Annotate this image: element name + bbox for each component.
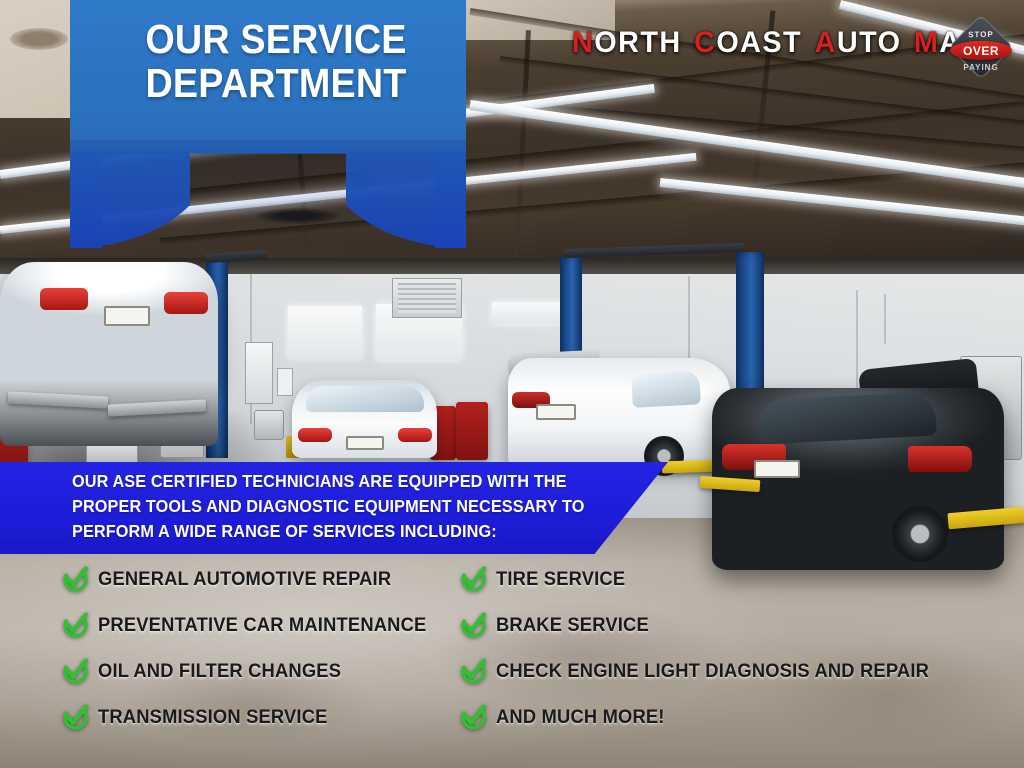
list-item-label: TIRE SERVICE <box>496 568 625 591</box>
taillight <box>908 446 972 472</box>
list-item[interactable]: AND MUCH MORE! <box>460 694 1000 740</box>
license-plate <box>346 436 384 450</box>
list-item[interactable]: OIL AND FILTER CHANGES <box>62 648 462 694</box>
list-item-label: TRANSMISSION SERVICE <box>98 706 328 729</box>
logo-cap-c: C <box>694 26 716 59</box>
list-item[interactable]: TRANSMISSION SERVICE <box>62 694 462 740</box>
wall-light-panel <box>288 306 362 358</box>
check-icon <box>460 658 486 684</box>
logo-cap-a: A <box>815 26 837 59</box>
stop-over-paying-badge[interactable]: STOP OVER PAYING <box>950 21 1012 83</box>
suv-side-window <box>631 370 701 408</box>
list-item-label: GENERAL AUTOMOTIVE REPAIR <box>98 568 391 591</box>
header-panel-tint <box>70 140 466 250</box>
logo-rest-uto: UTO <box>837 26 902 59</box>
services-column-right: TIRE SERVICE BRAKE SERVICE <box>460 556 1000 740</box>
car-white-sedan-on-lift <box>0 262 218 392</box>
logo-word-coast: COAST <box>694 28 802 58</box>
logo-word-auto: AUTO <box>815 28 902 58</box>
check-icon <box>62 566 88 592</box>
list-item[interactable]: TIRE SERVICE <box>460 556 1000 602</box>
logo-rest-orth: ORTH <box>594 26 681 59</box>
license-plate <box>754 460 800 478</box>
parts-bin <box>254 410 284 440</box>
list-item-label: CHECK ENGINE LIGHT DIAGNOSIS AND REPAIR <box>496 660 929 683</box>
badge-text-over: OVER <box>950 44 1012 58</box>
badge-text-stop: STOP <box>950 29 1012 39</box>
license-plate <box>104 306 150 326</box>
logo-word-north: NORTH <box>572 28 682 58</box>
check-icon <box>460 704 486 730</box>
info-banner-text: OUR ASE CERTIFIED TECHNICIANS ARE EQUIPP… <box>72 469 593 544</box>
check-icon <box>62 658 88 684</box>
brand-logo[interactable]: NORTH COAST AUTO MALL <box>572 28 1012 58</box>
license-plate <box>536 404 576 420</box>
logo-rest-oast: OAST <box>716 26 802 59</box>
ceiling-vent <box>10 28 68 50</box>
services-list: GENERAL AUTOMOTIVE REPAIR PREVENTATIVE C… <box>0 556 1024 746</box>
wall-ac-unit <box>392 278 462 318</box>
check-icon <box>460 612 486 638</box>
badge-text-paying: PAYING <box>950 63 1012 72</box>
wall-seam <box>884 294 886 344</box>
car-rear-window <box>306 386 424 412</box>
list-item-label: PREVENTATIVE CAR MAINTENANCE <box>98 614 426 637</box>
list-item[interactable]: GENERAL AUTOMOTIVE REPAIR <box>62 556 462 602</box>
check-icon <box>62 704 88 730</box>
logo-cap-m: M <box>914 26 939 59</box>
car-rear-window <box>759 391 937 444</box>
list-item-label: AND MUCH MORE! <box>496 706 665 729</box>
services-column-left: GENERAL AUTOMOTIVE REPAIR PREVENTATIVE C… <box>62 556 462 740</box>
list-item-label: BRAKE SERVICE <box>496 614 649 637</box>
logo-cap-n: N <box>572 26 594 59</box>
taillight <box>40 288 88 310</box>
tool-cart-red <box>456 402 488 460</box>
check-icon <box>460 566 486 592</box>
list-item[interactable]: PREVENTATIVE CAR MAINTENANCE <box>62 602 462 648</box>
wheel <box>892 506 948 562</box>
list-item-label: OIL AND FILTER CHANGES <box>98 660 341 683</box>
list-item[interactable]: BRAKE SERVICE <box>460 602 1000 648</box>
taillight <box>298 428 332 442</box>
check-icon <box>62 612 88 638</box>
wall-light-panel <box>492 302 562 324</box>
taillight <box>164 292 208 314</box>
taillight <box>398 428 432 442</box>
page-title: OUR SERVICE DEPARTMENT <box>110 18 441 106</box>
list-item[interactable]: CHECK ENGINE LIGHT DIAGNOSIS AND REPAIR <box>460 648 1000 694</box>
service-department-banner: OUR SERVICE DEPARTMENT NORTH COAST AUTO … <box>0 0 1024 768</box>
